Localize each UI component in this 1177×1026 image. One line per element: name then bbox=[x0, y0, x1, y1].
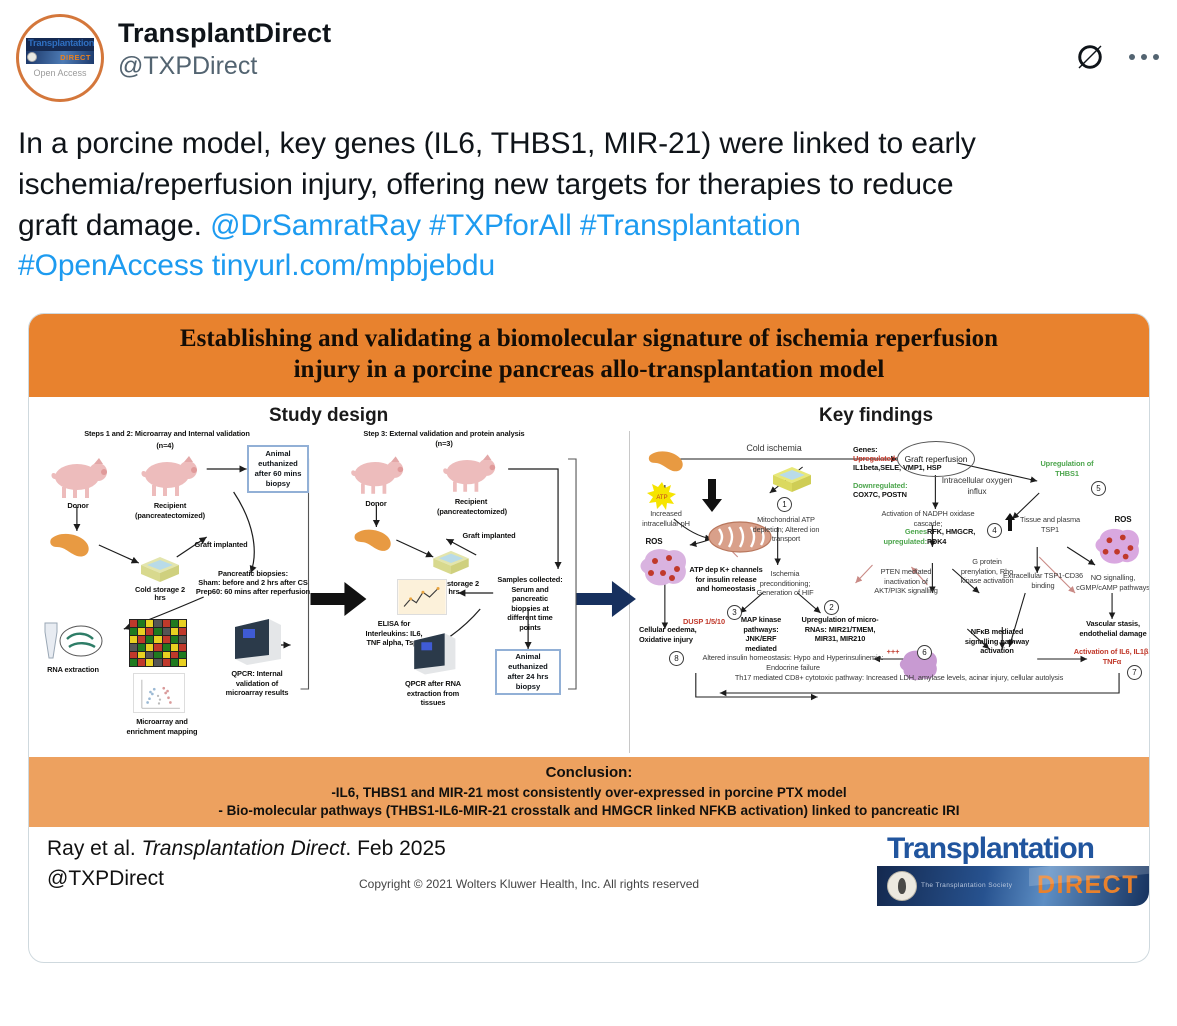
label-genes-down-list: COX7C, POSTN bbox=[853, 490, 945, 499]
label-recipient-step12: Recipient bbox=[125, 501, 215, 510]
account-names: TransplantDirect @TXPDirect bbox=[118, 14, 331, 82]
ros-cell-icon-left bbox=[637, 545, 691, 591]
citation-author: Ray et al. bbox=[47, 837, 142, 860]
microarray-heatmap-icon bbox=[129, 619, 187, 667]
avatar-logo-direct: DIRECT bbox=[60, 53, 91, 62]
label-thbs1-upregulation: Upregulation of THBS1 bbox=[1029, 459, 1105, 478]
mention-link[interactable]: @DrSamratRay bbox=[210, 209, 421, 242]
label-th17: Th17 mediated CD8+ cytotoxic pathway: In… bbox=[729, 673, 1069, 682]
account-handle[interactable]: @TXPDirect bbox=[118, 51, 331, 82]
avatar-logo: Transplantation DIRECT bbox=[26, 38, 94, 63]
external-url-link[interactable]: tinyurl.com/mpbjebdu bbox=[212, 249, 495, 282]
atp-burst-icon: ATP bbox=[645, 481, 679, 511]
pancreas-icon-1 bbox=[47, 529, 97, 563]
avatar[interactable]: Transplantation DIRECT Open Access bbox=[16, 14, 104, 102]
label-qpcr-after-rna: QPCR after RNA extraction from tissues bbox=[397, 679, 469, 707]
figure-title-line-1: Establishing and validating a biomolecul… bbox=[69, 324, 1109, 355]
label-donor-step12: Donor bbox=[47, 501, 109, 510]
figure-footer: Ray et al. Transplantation Direct. Feb 2… bbox=[29, 827, 1149, 913]
tweet-line-1: In a porcine model, key genes (IL6, THBS… bbox=[18, 127, 976, 160]
label-tissue-tsp1: Tissue and plasma TSP1 bbox=[1015, 515, 1085, 534]
node-number-4: 4 bbox=[987, 523, 1002, 538]
label-step3-n: (n=3) bbox=[404, 439, 484, 448]
journal-logo: Transplantation The Transplantation Soci… bbox=[877, 833, 1149, 913]
qpcr-machine-icon-1 bbox=[227, 615, 285, 667]
up-arrow-icon bbox=[1005, 513, 1015, 531]
label-oxygen-influx: Intracellular oxygen influx bbox=[941, 475, 1013, 497]
tweet-body: In a porcine model, key genes (IL6, THBS… bbox=[18, 124, 1159, 287]
conclusion-point-1: -IL6, THBS1 and MIR-21 most consistently… bbox=[39, 785, 1139, 800]
pig-recipient-icon bbox=[137, 453, 199, 501]
label-donor-step3: Donor bbox=[345, 499, 407, 508]
conclusion-banner: Conclusion: -IL6, THBS1 and MIR-21 most … bbox=[29, 757, 1149, 827]
box-euthanized-24hrs: Animal euthanized after 24 hrs biopsy bbox=[495, 649, 561, 695]
label-plus-signs: +++ bbox=[875, 647, 911, 656]
avatar-logo-band: DIRECT bbox=[26, 51, 94, 64]
citation-journal: Transplantation Direct bbox=[142, 837, 346, 860]
label-increased-ph: Increased intracellular pH bbox=[637, 509, 695, 528]
label-nfkb: NFκB mediated signalling pathway activat… bbox=[957, 627, 1037, 655]
conclusion-title: Conclusion: bbox=[39, 764, 1139, 781]
society-seal-icon-footer bbox=[887, 871, 917, 901]
pancreas-icon-key bbox=[645, 447, 691, 477]
label-cold-ischemia: Cold ischemia bbox=[729, 443, 819, 455]
more-options-icon[interactable] bbox=[1129, 54, 1159, 60]
label-recipient-sub-step3: (pancreatectomized) bbox=[421, 507, 523, 516]
panel-divider bbox=[629, 431, 630, 753]
elisa-chart-icon bbox=[397, 579, 447, 615]
node-number-8: 8 bbox=[669, 651, 684, 666]
label-nadph-genes-list-a: RFK, HMGCR, PDK4 bbox=[927, 527, 985, 546]
cold-storage-dish-icon-key bbox=[769, 465, 815, 495]
label-activation-il6: Activation of IL6, IL1β, TNFα bbox=[1069, 647, 1150, 666]
label-recipient-sub-step12: (pancreatectomized) bbox=[117, 511, 223, 520]
node-number-5: 5 bbox=[1091, 481, 1106, 496]
box-euthanized-60min: Animal euthanized after 60 mins biopsy bbox=[247, 445, 309, 493]
ros-cell-icon-right bbox=[1091, 525, 1145, 569]
label-qpcr-internal: QPCR: Internal validation of microarray … bbox=[219, 669, 295, 697]
pig-donor-icon bbox=[47, 455, 109, 503]
label-no-signalling: NO signalling, cGMP/cAMP pathways bbox=[1075, 573, 1150, 592]
label-node-1: Mitochondrial ATP depletion; Altered ion… bbox=[747, 515, 825, 543]
label-nadph-genes: Genes upregulated: bbox=[865, 527, 927, 546]
label-pten: PTEN mediated inactivation of AKT/PI3K s… bbox=[869, 567, 943, 595]
tweet-line-3: graft damage. bbox=[18, 209, 210, 242]
label-step12-header: Steps 1 and 2: Microarray and Internal v… bbox=[49, 429, 285, 438]
label-step12-n: (n=4) bbox=[125, 441, 205, 450]
hashtag-transplantation[interactable]: #Transplantation bbox=[580, 209, 801, 242]
society-seal-icon bbox=[27, 52, 37, 62]
figure-title-banner: Establishing and validating a biomolecul… bbox=[29, 314, 1149, 397]
label-genes-up-list: IL1beta,SELE, VMP1, HSP bbox=[853, 463, 945, 472]
label-nadph: Activation of NADPH oxidase cascade; bbox=[873, 509, 983, 528]
label-mirnas: Upregulation of micro-RNAs: MIR21/TMEM, … bbox=[801, 615, 879, 643]
figure-title-line-2: injury in a porcine pancreas allo-transp… bbox=[69, 355, 1109, 386]
label-step3-header: Step 3: External validation and protein … bbox=[329, 429, 559, 438]
display-name[interactable]: TransplantDirect bbox=[118, 18, 331, 49]
citation: Ray et al. Transplantation Direct. Feb 2… bbox=[47, 837, 446, 861]
panel-title-study-design: Study design bbox=[269, 405, 388, 427]
label-dusp: DUSP 1/5/10 bbox=[677, 617, 731, 626]
node-number-7: 7 bbox=[1127, 665, 1142, 680]
tweet-actions bbox=[1075, 42, 1159, 72]
figure-panels: Study design Key findings bbox=[29, 397, 1149, 757]
label-microarray-mapping: Microarray and enrichment mapping bbox=[119, 717, 205, 736]
tweet-line-2: ischemia/reperfusion injury, offering ne… bbox=[18, 168, 953, 201]
rna-extraction-icon bbox=[39, 619, 105, 665]
avatar-open-access-label: Open Access bbox=[33, 68, 86, 78]
label-samples-collected: Samples collected: Serum and pancreatic … bbox=[497, 575, 563, 632]
label-ros-right: ROS bbox=[1107, 515, 1139, 525]
label-graft-implanted-2: Graft implanted bbox=[447, 531, 531, 540]
qpcr-machine-icon-2 bbox=[407, 629, 459, 677]
pancreas-icon-2 bbox=[351, 525, 399, 557]
pig-donor-icon-step3 bbox=[347, 453, 405, 499]
logo-band: The Transplantation Society DIRECT bbox=[877, 866, 1149, 906]
label-insulin-homeostasis: Altered insulin homeostasis: Hypo and Hy… bbox=[695, 653, 891, 672]
tweet-container: Transplantation DIRECT Open Access Trans… bbox=[0, 0, 1177, 287]
label-ischemia-preconditioning: Ischemia preconditioning; Generation of … bbox=[745, 569, 825, 597]
citation-date: . Feb 2025 bbox=[345, 837, 445, 860]
cold-storage-dish-icon-2 bbox=[429, 549, 473, 577]
hashtag-txpforall[interactable]: #TXPforAll bbox=[429, 209, 571, 242]
avatar-logo-wordmark: Transplantation bbox=[26, 38, 94, 50]
down-arrow-icon bbox=[701, 479, 723, 513]
label-rna-extraction: RNA extraction bbox=[33, 665, 113, 674]
label-vascular-stasis: Vascular stasis, endothelial damage bbox=[1075, 619, 1150, 638]
panel-title-key-findings: Key findings bbox=[819, 405, 933, 427]
copyright-notice: Copyright © 2021 Wolters Kluwer Health, … bbox=[359, 877, 699, 891]
node-number-2: 2 bbox=[824, 600, 839, 615]
label-extracellular-tsp1: Extracellular TSP1-CD36 binding bbox=[1001, 571, 1085, 590]
footer-handle: @TXPDirect bbox=[47, 867, 164, 891]
pig-recipient-icon-step3 bbox=[439, 451, 497, 497]
label-cellular-oedema: Cellular oedema, Oxidative injury bbox=[639, 625, 715, 644]
svg-text:ATP: ATP bbox=[656, 495, 667, 501]
label-recipient-step3: Recipient bbox=[431, 497, 511, 506]
tweet-header: Transplantation DIRECT Open Access Trans… bbox=[16, 14, 1161, 102]
node-number-1: 1 bbox=[777, 497, 792, 512]
grok-icon[interactable] bbox=[1075, 42, 1105, 72]
label-map-kinase: MAP kinase pathways: JNK/ERF mediated bbox=[729, 615, 793, 653]
hashtag-openaccess[interactable]: #OpenAccess bbox=[18, 249, 204, 282]
figure-card[interactable]: Establishing and validating a biomolecul… bbox=[28, 313, 1150, 963]
label-graft-implanted-1: Graft implanted bbox=[179, 540, 263, 549]
volcano-plot-icon bbox=[133, 673, 185, 713]
label-biopsies-3: Prep60: 60 mins after reperfusion bbox=[177, 587, 329, 596]
conclusion-point-2: - Bio-molecular pathways (THBS1-IL6-MIR-… bbox=[39, 803, 1139, 818]
logo-society-label: The Transplantation Society bbox=[921, 882, 1012, 889]
